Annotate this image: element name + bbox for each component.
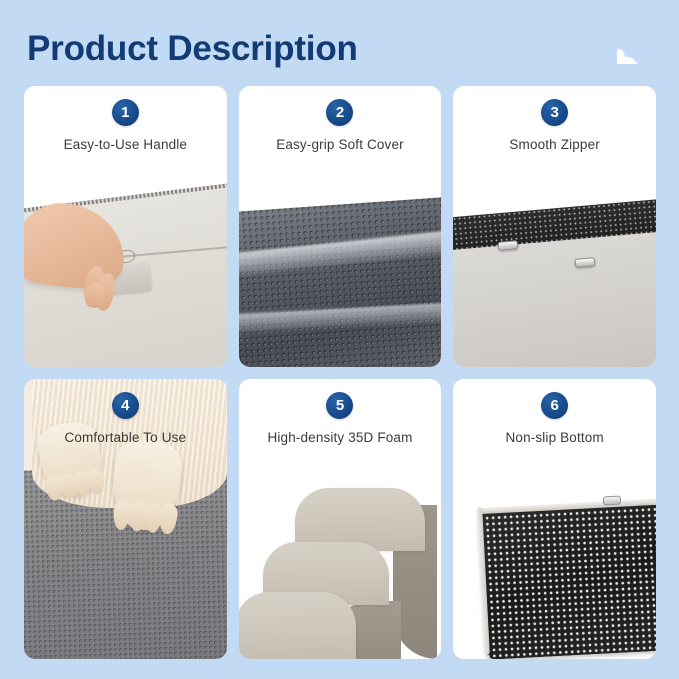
high-density-foam-photo <box>239 451 442 660</box>
feature-card-1[interactable]: 1 Easy-to-Use Handle <box>24 86 227 367</box>
card-label: Easy-grip Soft Cover <box>276 137 404 152</box>
card-number-badge: 2 <box>326 99 353 126</box>
card-number-badge: 5 <box>326 392 353 419</box>
non-slip-bottom-photo <box>453 451 656 660</box>
card-header: 4 Comfortable To Use <box>24 379 227 445</box>
card-header: 6 Non-slip Bottom <box>453 379 656 445</box>
card-label: Smooth Zipper <box>509 137 600 152</box>
page-header: Product Description <box>0 0 679 86</box>
card-header: 1 Easy-to-Use Handle <box>24 86 227 152</box>
page-title: Product Description <box>27 27 358 71</box>
card-number-badge: 1 <box>112 99 139 126</box>
card-label: Easy-to-Use Handle <box>64 137 188 152</box>
feature-card-3[interactable]: 3 Smooth Zipper <box>453 86 656 367</box>
easy-grip-soft-cover-photo <box>239 158 442 367</box>
card-label: Comfortable To Use <box>64 430 186 445</box>
card-header: 3 Smooth Zipper <box>453 86 656 152</box>
smooth-zipper-photo <box>453 158 656 367</box>
cloud-icon <box>614 43 640 65</box>
card-label: Non-slip Bottom <box>506 430 604 445</box>
card-number-badge: 4 <box>112 392 139 419</box>
feature-card-2[interactable]: 2 Easy-grip Soft Cover <box>239 86 442 367</box>
card-number-badge: 6 <box>541 392 568 419</box>
feature-card-5[interactable]: 5 High-density 35D Foam <box>239 379 442 660</box>
card-label: High-density 35D Foam <box>268 430 413 445</box>
feature-card-6[interactable]: 6 Non-slip Bottom <box>453 379 656 660</box>
easy-to-use-handle-photo <box>24 158 227 367</box>
feature-cards-grid: 1 Easy-to-Use Handle 2 Easy-grip Soft Co… <box>24 86 656 659</box>
card-number-badge: 3 <box>541 99 568 126</box>
card-header: 5 High-density 35D Foam <box>239 379 442 445</box>
feature-card-4[interactable]: 4 Comfortable To Use <box>24 379 227 660</box>
card-header: 2 Easy-grip Soft Cover <box>239 86 442 152</box>
